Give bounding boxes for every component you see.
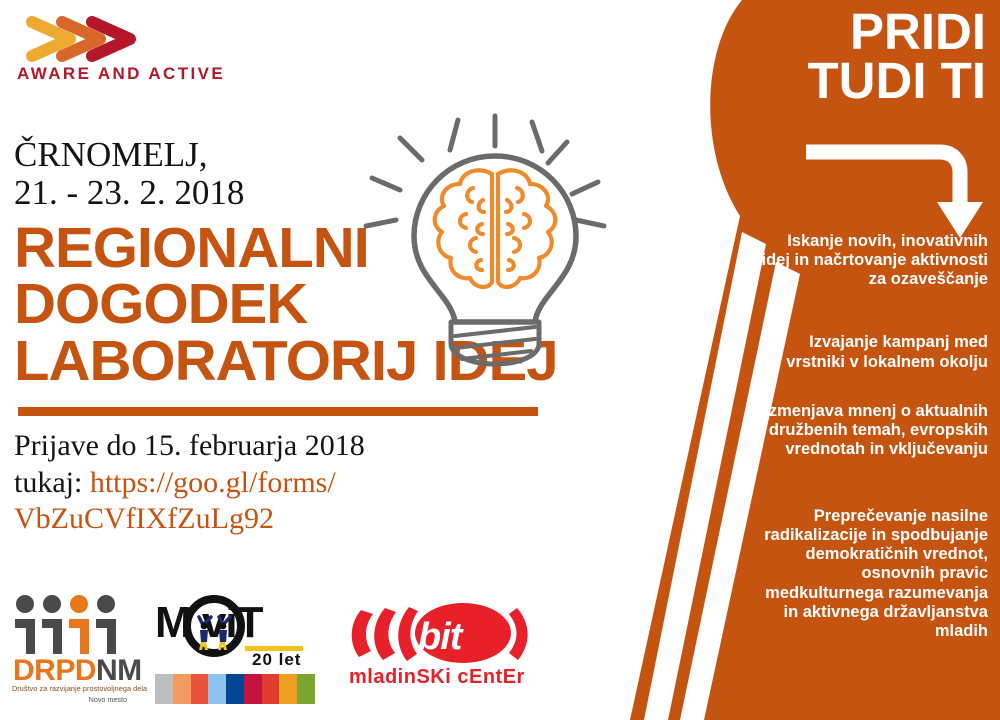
drpd-tagline-line1: Društvo za razvijanje prostovoljnega del… xyxy=(12,684,147,693)
bar-swatch xyxy=(226,674,244,704)
signup-url-part2[interactable]: VbZuCVfIXfZuLg92 xyxy=(14,501,365,538)
headline-line-2: TUDI TI xyxy=(808,57,986,106)
panel-bullet-list: Iskanje novih, inovativnih idej in načrt… xyxy=(756,232,988,641)
drpd-nm-logo: DRPDNM Društvo za razvijanje prostovoljn… xyxy=(8,592,133,714)
aware-and-active-logo: AWARE AND ACTIVE xyxy=(14,16,244,86)
panel-bullet-2: Izvajanje kampanj med vrstniki v lokalne… xyxy=(756,333,988,371)
bar-swatch xyxy=(297,674,315,704)
bar-swatch xyxy=(155,674,173,704)
bar-swatch xyxy=(208,674,226,704)
panel-bullet-4: Preprečevanje nasilne radikalizacije in … xyxy=(756,507,988,641)
bar-swatch xyxy=(279,674,297,704)
signup-label: tukaj: xyxy=(14,466,90,499)
bar-swatch xyxy=(173,674,191,704)
poster-canvas: AWARE AND ACTIVE ČRNOMELJ, 21. - 23. 2. … xyxy=(0,0,1000,720)
movit-logo: M viT 20 let xyxy=(155,598,320,713)
panel-headline: PRIDI TUDI TI xyxy=(808,8,986,106)
movit-people-icon xyxy=(199,617,230,650)
aware-and-active-wordmark: AWARE AND ACTIVE xyxy=(17,64,225,84)
bulb-base-hatching xyxy=(455,327,535,359)
panel-bullet-1: Iskanje novih, inovativnih idej in načrt… xyxy=(756,232,988,289)
bar-swatch xyxy=(244,674,262,704)
bit-mladinski-center-logo: bit mladinSKi cEntEr xyxy=(345,602,535,707)
bar-swatch xyxy=(262,674,280,704)
movit-circle-figures-icon xyxy=(183,595,245,657)
bit-wordmark: bit xyxy=(418,616,461,659)
movit-years-label: 20 let xyxy=(252,650,301,670)
panel-bullet-3: Izmenjava mnenj o aktualnih družbenih te… xyxy=(756,402,988,459)
title-underline-rule xyxy=(18,407,538,416)
drpd-wordmark-part1: DRPD xyxy=(13,654,96,687)
drpd-tagline-line2: Novo mesto xyxy=(89,695,127,704)
brain-icon xyxy=(435,170,556,287)
bar-swatch xyxy=(191,674,209,704)
drpd-figures-icon xyxy=(8,592,133,654)
signup-url-part1[interactable]: https://goo.gl/forms/ xyxy=(90,466,336,499)
signup-url-row: tukaj: https://goo.gl/forms/ xyxy=(14,465,365,502)
drpd-wordmark: DRPDNM xyxy=(13,654,142,688)
bit-subtitle: mladinSKi cEntEr xyxy=(349,666,525,689)
chevrons-icon xyxy=(14,16,244,66)
place-and-date: ČRNOMELJ, 21. - 23. 2. 2018 xyxy=(14,136,244,212)
signup-deadline: Prijave do 15. februarja 2018 xyxy=(14,428,365,465)
lightbulb-brain-icon xyxy=(352,108,622,368)
right-orange-panel: PRIDI TUDI TI Iskanje novih, inovativnih… xyxy=(630,0,1000,720)
signup-info: Prijave do 15. februarja 2018 tukaj: htt… xyxy=(14,428,365,538)
drpd-wordmark-part2: NM xyxy=(96,654,142,687)
movit-color-bar xyxy=(155,674,315,704)
headline-line-1: PRIDI xyxy=(808,8,986,57)
